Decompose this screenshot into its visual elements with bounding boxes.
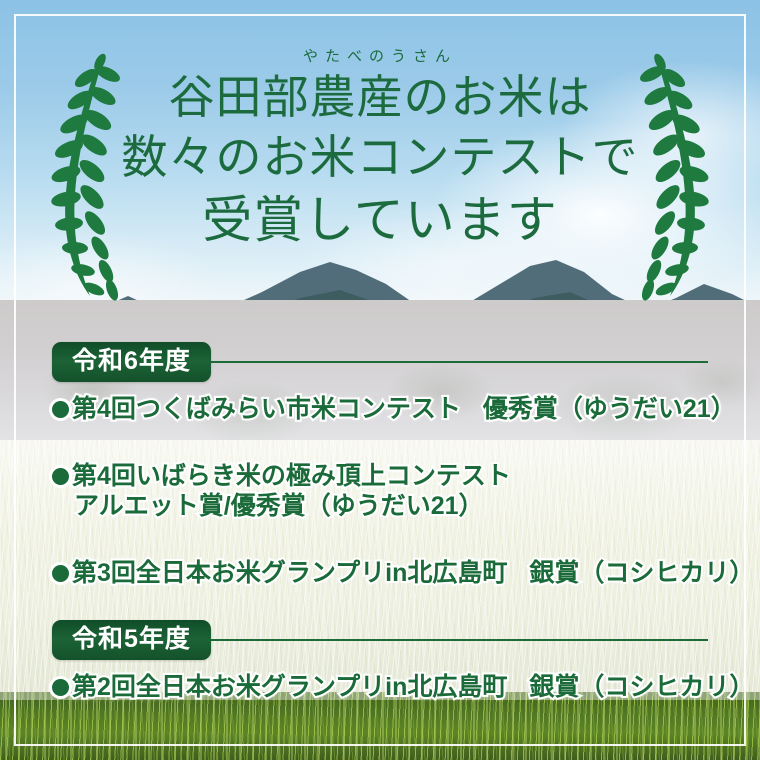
bullet-dot-icon [52,679,69,696]
award-item: 第4回いばらき米の極み頂上コンテスト アルエット賞/優秀賞（ゆうだい21） [52,461,760,522]
headline-line-2: 数々のお米コンテストで [0,128,760,188]
award-prize: 優秀賞（ゆうだい21） [483,395,736,423]
year-heading-row: 令和5年度 [52,616,760,664]
year-divider-line [209,639,708,641]
award-prize: 銀賞（コシヒカリ） [529,673,754,701]
award-title: 第4回つくばみらい市米コンテスト [72,395,461,423]
bullet-dot-icon [52,468,69,485]
headline-line-3: 受賞しています [0,188,760,253]
award-title: 第2回全日本お米グランプリin北広島町 [72,673,507,701]
headline-block: やたべのうさん 谷田部農産のお米は 数々のお米コンテストで 受賞しています [0,48,760,253]
award-item: 第4回つくばみらい市米コンテスト優秀賞（ゆうだい21） [52,394,760,425]
award-prize: アルエット賞/優秀賞（ゆうだい21） [52,491,760,522]
year-badge-reiwa5: 令和5年度 [52,620,211,660]
bullet-dot-icon [52,401,69,418]
year-heading-row: 令和6年度 [52,338,760,386]
year-divider-line [209,361,708,363]
award-item: 第3回全日本お米グランプリin北広島町銀賞（コシヒカリ） [52,558,760,589]
award-title: 第3回全日本お米グランプリin北広島町 [72,559,507,587]
award-prize: 銀賞（コシヒカリ） [529,559,754,587]
award-title: 第4回いばらき米の極み頂上コンテスト [72,462,511,490]
award-item: 第2回全日本お米グランプリin北広島町銀賞（コシヒカリ） [52,672,760,703]
awards-list: 令和6年度 第4回つくばみらい市米コンテスト優秀賞（ゆうだい21） 第4回いばら… [0,338,760,703]
headline-furigana: やたべのうさん [0,48,760,66]
year-badge-reiwa6: 令和6年度 [52,342,211,382]
bullet-dot-icon [52,565,69,582]
headline-line-1: 谷田部農産のお米は [0,68,760,128]
award-banner: やたべのうさん 谷田部農産のお米は 数々のお米コンテストで 受賞しています 令和… [0,0,760,760]
